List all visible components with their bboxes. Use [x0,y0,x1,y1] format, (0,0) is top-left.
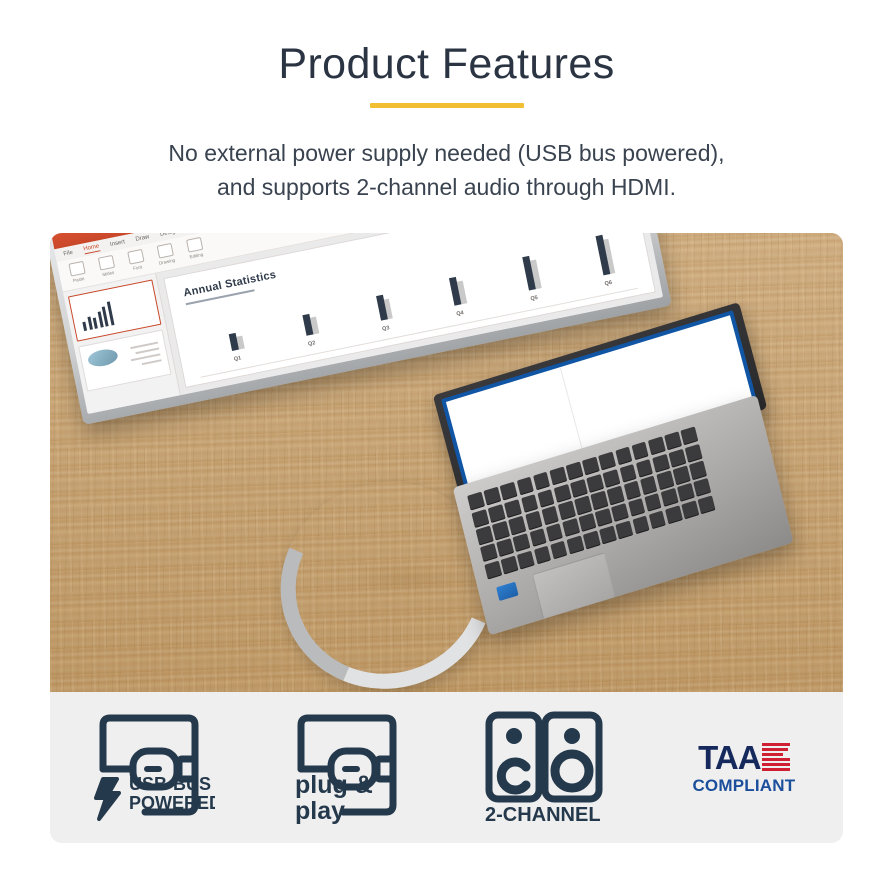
ribbon-label-font: Font [133,264,143,271]
badge-taa-compliant: TAA COMPLIANT [645,692,843,843]
ribbon-group-slides[interactable]: Slides [97,255,117,280]
left-woofer-icon [501,762,526,790]
taa-flag-icon [762,743,790,771]
stereo-speakers-icon: 2-CHANNEL [481,709,611,827]
slide-thumbnail[interactable] [78,329,171,391]
taa-word: TAA [698,741,760,774]
tab-file[interactable]: File [63,249,74,257]
taa-logo: TAA COMPLIANT [692,741,795,794]
ribbon-group-paste[interactable]: Paste [67,261,87,286]
lightning-bolt-icon [96,779,119,819]
ribbon-label-slides: Slides [102,270,115,277]
header: Product Features No external power suppl… [0,0,893,233]
usb-bus-powered-icon: USB-BUS POWERED [83,709,215,827]
tab-home[interactable]: Home [83,243,100,254]
badge-two-channel: 2-CHANNEL [447,692,645,843]
badge-usb-bus-powered: USB-BUS POWERED [50,692,248,843]
badge-label-line1: plug & [295,771,373,799]
font-icon [127,249,144,265]
ribbon-group-drawing[interactable]: Drawing [156,243,176,268]
subtitle-line-1: No external power supply needed (USB bus… [0,136,893,170]
chart-bar-item: Q1 [196,301,267,357]
taa-logo-top: TAA [698,741,789,774]
drawing-icon [156,243,173,259]
title-divider [370,103,524,108]
taa-compliant-word: COMPLIANT [692,777,795,794]
badge-label-line1: 2-CHANNEL [485,804,601,826]
badge-label-line2: play [295,797,345,825]
feature-badge-strip: USB-BUS POWERED plug & play [50,692,843,843]
monitor-stand [280,483,465,668]
thumbnail-image [87,347,120,369]
page-title: Product Features [0,40,893,89]
ribbon-label-drawing: Drawing [158,258,175,266]
editing-icon [186,237,203,253]
subtitle-line-2: and supports 2-channel audio through HDM… [0,170,893,204]
right-tweeter-icon [564,728,580,744]
laptop-cpu-sticker [496,582,519,601]
product-feature-page: Product Features No external power suppl… [0,0,893,893]
chart-bar-item: Q2 [270,286,341,342]
badge-plug-and-play: plug & play [248,692,446,843]
page-subtitle: No external power supply needed (USB bus… [0,136,893,204]
chart-bar-item: Q3 [344,271,415,327]
thumbnail-chart [79,301,114,331]
badge-label-line2: POWERED [129,793,215,813]
chart-bar-item: Q4 [418,255,489,311]
ribbon-label-paste: Paste [73,276,85,283]
product-photo-panel: Presentation 1 - PowerPoint File Home In… [50,233,843,843]
ribbon-group-font[interactable]: Font [126,249,146,274]
chart-bar-item: Q5 [492,240,563,296]
badge-label-line1: USB-BUS [129,774,211,794]
left-tweeter-icon [506,728,522,744]
tab-draw[interactable]: Draw [135,234,150,243]
chart-bar-item: Q6 [567,233,638,281]
slides-icon [97,255,114,271]
ribbon-group-editing[interactable]: Editing [185,237,205,262]
desk-photo: Presentation 1 - PowerPoint File Home In… [50,233,843,692]
paste-icon [68,261,85,277]
plug-and-play-icon: plug & play [281,709,413,827]
tab-insert[interactable]: Insert [110,239,126,248]
ribbon-label-editing: Editing [189,252,203,260]
right-woofer-icon [555,754,589,788]
